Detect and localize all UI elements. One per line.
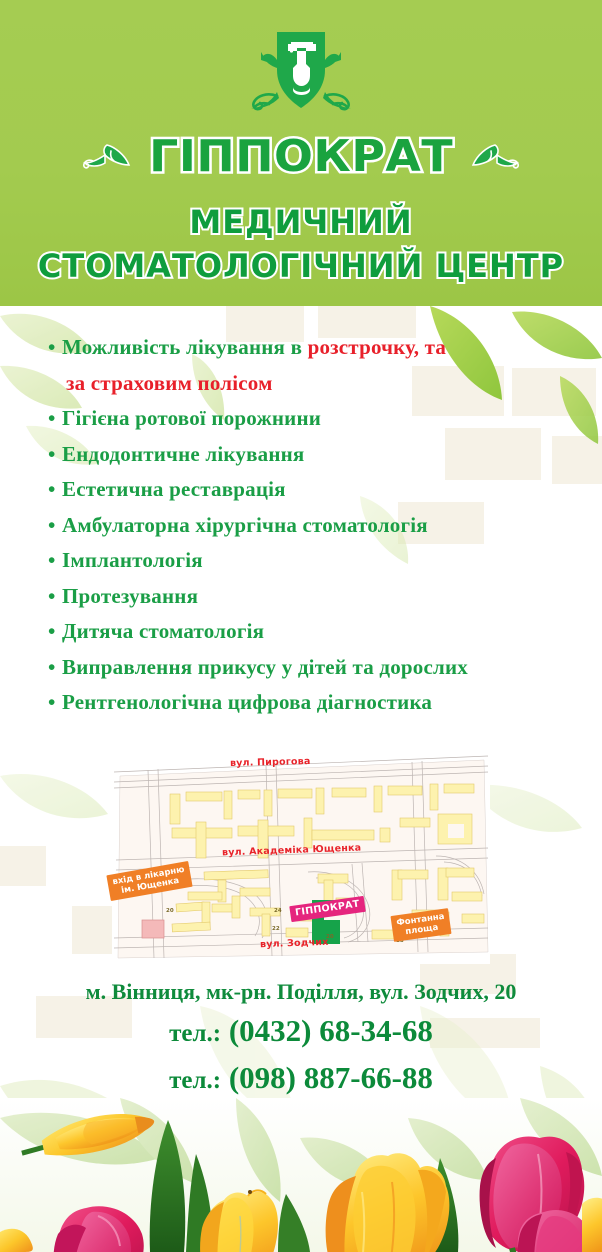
phone-label: тел.: (169, 1067, 221, 1094)
service-text: Ендодонтичне лікування (62, 442, 305, 466)
leaf-flourish-right-icon (465, 137, 525, 177)
location-map[interactable]: 20 24 22 20 18 вул. Пирогова вул. Академ… (112, 752, 490, 964)
leaf-flourish-left-icon (77, 137, 137, 177)
service-text: Амбулаторна хірургічна стоматологія (62, 513, 428, 537)
contact-block: м. Вінниця, мк-рн. Поділля, вул. Зодчих,… (0, 975, 602, 1103)
service-item: •Можливість лікування в розстрочку, та (0, 330, 602, 366)
tulips-decoration (0, 1098, 602, 1252)
services-list: •Можливість лікування в розстрочку, та з… (0, 330, 602, 721)
service-text: Естетична реставрація (62, 477, 286, 501)
bullet-icon: • (48, 330, 56, 366)
bullet-icon: • (48, 437, 56, 473)
phone-row-1[interactable]: тел.: (0432) 68-34-68 (0, 1009, 602, 1056)
service-item: •Дитяча стоматологія (0, 614, 602, 650)
phone-number-2: (098) 887-66-88 (229, 1060, 433, 1095)
phone-label: тел.: (169, 1020, 221, 1047)
svg-text:22: 22 (272, 926, 280, 932)
service-item: •Імплантологія (0, 543, 602, 579)
service-text: Дитяча стоматологія (62, 619, 264, 643)
flyer-root: ГІППОКРАТ МЕДИЧНИЙ СТОМАТОЛОГІЧНИЙ ЦЕНТР (0, 0, 602, 1252)
service-text-green: Можливість лікування в (62, 335, 308, 359)
service-item: •Естетична реставрація (0, 472, 602, 508)
shield-emblem-icon (221, 18, 381, 118)
service-item: •Рентгенологічна цифрова діагностика (0, 685, 602, 721)
svg-text:20: 20 (166, 908, 174, 914)
service-item: •Протезування (0, 579, 602, 615)
tulips-graphic (0, 1098, 602, 1252)
svg-text:24: 24 (274, 908, 282, 914)
phone-row-2[interactable]: тел.: (098) 887-66-88 (0, 1056, 602, 1103)
phone-number-1: (0432) 68-34-68 (229, 1013, 433, 1048)
address-text: м. Вінниця, мк-рн. Поділля, вул. Зодчих,… (0, 975, 602, 1009)
service-text: Виправлення прикусу у дітей та дорослих (62, 655, 468, 679)
brand-title: ГІППОКРАТ (149, 135, 453, 179)
header-subtitle-line2: СТОМАТОЛОГІЧНИЙ ЦЕНТР (0, 250, 602, 282)
service-item: •Гігієна ротової порожнини (0, 401, 602, 437)
service-text: Протезування (62, 584, 198, 608)
service-text: Імплантологія (62, 548, 203, 572)
brand-row: ГІППОКРАТ (0, 126, 602, 188)
service-text: Рентгенологічна цифрова діагностика (62, 690, 432, 714)
service-item: •Виправлення прикусу у дітей та дорослих (0, 650, 602, 686)
header-banner: ГІППОКРАТ МЕДИЧНИЙ СТОМАТОЛОГІЧНИЙ ЦЕНТР (0, 0, 602, 306)
bullet-icon: • (48, 579, 56, 615)
bullet-icon: • (48, 508, 56, 544)
service-text-accent: розстрочку, та (308, 335, 447, 359)
bullet-icon: • (48, 543, 56, 579)
header-subtitle-line1: МЕДИЧНИЙ (0, 206, 602, 238)
service-item: •Амбулаторна хірургічна стоматологія (0, 508, 602, 544)
bullet-icon: • (48, 685, 56, 721)
service-item-continuation: за страховим полісом (0, 366, 602, 402)
bullet-icon: • (48, 401, 56, 437)
service-item: •Ендодонтичне лікування (0, 437, 602, 473)
map-street-label-pirogova: вул. Пирогова (230, 756, 311, 769)
service-continuation-text: за страховим полісом (66, 371, 273, 395)
bullet-icon: • (48, 472, 56, 508)
bullet-icon: • (48, 650, 56, 686)
bullet-icon: • (48, 614, 56, 650)
service-text: Гігієна ротової порожнини (62, 406, 321, 430)
